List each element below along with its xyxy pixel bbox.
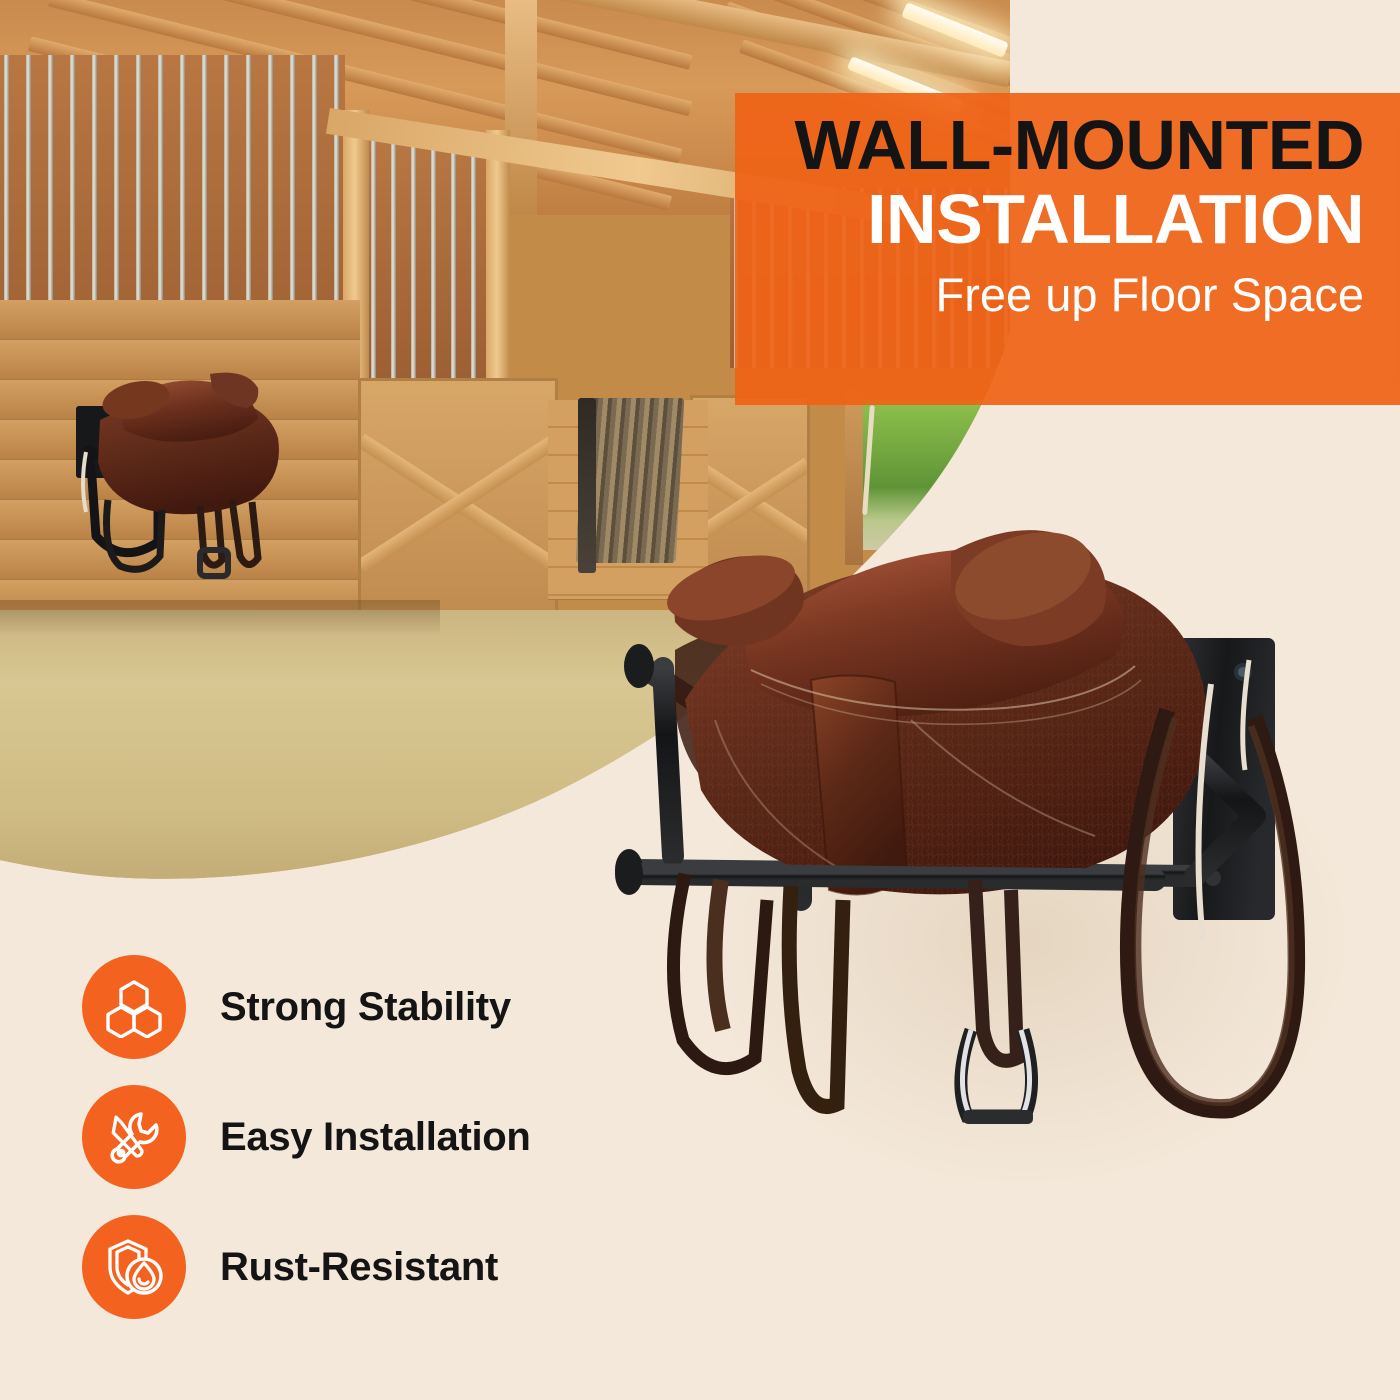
inset-saddle-on-rack: [62, 360, 312, 595]
honeycomb-hexagons-icon: [82, 955, 186, 1059]
feature-item-strong-stability: Strong Stability: [82, 942, 642, 1072]
headline-line-2: INSTALLATION: [735, 184, 1364, 255]
headline-line-1: WALL-MOUNTED: [735, 111, 1364, 180]
feature-label: Rust-Resistant: [220, 1245, 498, 1290]
barn-door-x-brace: [358, 378, 558, 623]
rack-end-caps: [615, 644, 654, 891]
feature-list: Strong Stability Easy Installation: [82, 942, 642, 1332]
feature-label: Strong Stability: [220, 985, 511, 1030]
floor-shadow: [0, 600, 440, 636]
wrench-screwdriver-icon: [82, 1085, 186, 1189]
headline-subtitle: Free up Floor Space: [735, 269, 1364, 321]
feature-item-easy-installation: Easy Installation: [82, 1072, 642, 1202]
hero-product-image: [555, 470, 1345, 1260]
product-marketing-image: WALL-MOUNTED INSTALLATION Free up Floor …: [0, 0, 1400, 1400]
rack-end-cap: [615, 853, 643, 895]
feature-item-rust-resistant: Rust-Resistant: [82, 1202, 642, 1332]
wall-plank: [0, 300, 360, 340]
saddle-rack-front-bar: [631, 874, 1155, 880]
stall-post: [486, 130, 510, 400]
feature-label: Easy Installation: [220, 1115, 531, 1160]
headline-banner: WALL-MOUNTED INSTALLATION Free up Floor …: [735, 93, 1400, 405]
shield-water-drop-icon: [82, 1215, 186, 1319]
